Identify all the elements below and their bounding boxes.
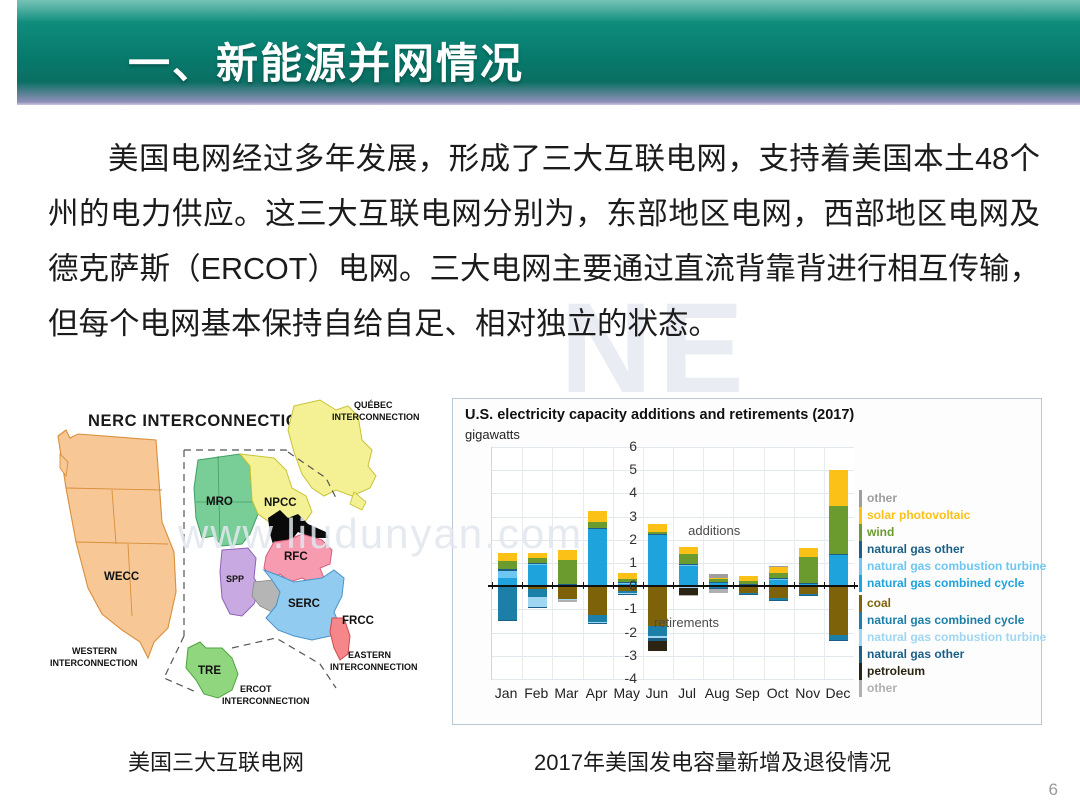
header-left-strip — [0, 0, 17, 105]
map-label-serc: SERC — [288, 598, 320, 610]
chart-legend-swatch — [859, 612, 862, 629]
chart-legend-swatch — [859, 507, 862, 524]
chart-legend-label: natural gas combustion turbine — [867, 630, 1046, 644]
chart-axis-tick — [492, 582, 493, 589]
header-sheen — [17, 0, 1080, 22]
chart-bar-segment — [739, 581, 758, 584]
chart-x-tick-label: Oct — [761, 685, 795, 701]
chart-bar — [588, 447, 607, 679]
chart-axis-tick — [703, 582, 704, 589]
chart-gridline-v — [794, 447, 795, 679]
chart-legend-label: solar photovoltaic — [867, 508, 970, 522]
chart-title: U.S. electricity capacity additions and … — [465, 407, 854, 423]
chart-bar-segment — [829, 640, 848, 641]
map-annotation-quebec-line2: INTERCONNECTION — [332, 412, 420, 422]
page-title: 一、新能源并网情况 — [128, 30, 524, 91]
chart-gridline-v — [764, 447, 765, 679]
chart-bar — [679, 447, 698, 679]
chart-bar-segment — [528, 589, 547, 597]
chart-bar-segment — [829, 554, 848, 555]
chart-bar-segment — [799, 586, 818, 594]
chart-bar-segment — [709, 579, 728, 581]
chart-bar-segment — [829, 470, 848, 506]
chart-gridline-v — [583, 447, 584, 679]
chart-bar-segment — [588, 615, 607, 622]
chart-bar-segment — [769, 586, 788, 598]
chart-axis-tick — [854, 582, 855, 589]
chart-axis-tick — [643, 582, 644, 589]
chart-bar-segment — [739, 594, 758, 595]
chart-legend-swatch — [859, 541, 862, 558]
page-number: 6 — [1049, 780, 1058, 800]
chart-annotation-additions: additions — [688, 523, 740, 538]
chart-bar-segment — [769, 573, 788, 578]
chart-bar-segment — [498, 571, 517, 578]
map-label-rfc: RFC — [284, 551, 308, 563]
chart-bar — [498, 447, 517, 679]
map-label-mro: MRO — [206, 496, 233, 508]
chart-gridline-v — [643, 447, 644, 679]
chart-bar-segment — [528, 564, 547, 565]
chart-bar-segment — [528, 607, 547, 608]
chart-bar-segment — [679, 565, 698, 586]
chart-y-tick-label: 3 — [615, 508, 637, 524]
capacity-chart-panel: U.S. electricity capacity additions and … — [452, 398, 1042, 725]
map-label-frcc: FRCC — [342, 615, 374, 627]
chart-y-tick-label: 6 — [615, 438, 637, 454]
chart-bar-segment — [769, 578, 788, 579]
chart-legend-swatch — [859, 680, 862, 697]
chart-legend-label: petroleum — [867, 664, 925, 678]
chart-bar-segment — [528, 565, 547, 586]
chart-legend-swatch — [859, 558, 862, 575]
chart-bar — [829, 447, 848, 679]
chart-bar-segment — [648, 524, 667, 532]
chart-bar-segment — [679, 547, 698, 554]
chart-bar-segment — [829, 586, 848, 635]
chart-y-tick-label: -3 — [615, 647, 637, 663]
chart-legend-swatch — [859, 629, 862, 646]
chart-bar-segment — [618, 594, 637, 595]
chart-y-tick-label: -2 — [615, 624, 637, 640]
chart-x-tick-label: Dec — [821, 685, 855, 701]
chart-bar-segment — [648, 534, 667, 535]
chart-bar-segment — [679, 554, 698, 564]
chart-y-tick-label: 1 — [615, 554, 637, 570]
chart-bar — [739, 447, 758, 679]
chart-axis-tick — [583, 582, 584, 589]
map-annotation-eastern-line1: EASTERN — [348, 650, 391, 660]
chart-x-tick-label: Aug — [700, 685, 734, 701]
chart-bar-segment — [498, 569, 517, 571]
chart-legend-label: natural gas other — [867, 647, 964, 661]
nerc-interconnections-map: NERC INTERCONNECTIONS WECC — [36, 392, 440, 722]
chart-gridline-v — [552, 447, 553, 679]
chart-y-tick-label: -4 — [615, 670, 637, 686]
chart-bar-segment — [769, 566, 788, 573]
map-annotation-eastern-line2: INTERCONNECTION — [330, 662, 418, 672]
chart-bar-segment — [799, 595, 818, 596]
chart-gridline-v — [522, 447, 523, 679]
chart-bar-segment — [558, 586, 577, 599]
chart-x-tick-label: Jul — [670, 685, 704, 701]
chart-bar-segment — [588, 586, 607, 615]
body-paragraph: 美国电网经过多年发展，形成了三大互联电网，支持着美国本土48个州的电力供应。这三… — [48, 132, 1040, 352]
chart-axis-tick — [733, 582, 734, 589]
chart-legend-swatch — [859, 490, 862, 507]
chart-bar-segment — [588, 528, 607, 529]
chart-subtitle: gigawatts — [465, 427, 520, 442]
chart-annotation-retirements: retirements — [654, 615, 719, 630]
chart-bar-segment — [769, 566, 788, 567]
chart-gridline-h — [492, 679, 854, 680]
chart-legend-label: natural gas combined cycle — [867, 613, 1024, 627]
chart-bar-segment — [799, 548, 818, 557]
chart-axis-tick — [824, 582, 825, 589]
chart-bar-segment — [739, 586, 758, 593]
map-annotation-quebec-line1: QUÉBEC — [354, 400, 393, 410]
chart-x-tick-label: Apr — [580, 685, 614, 701]
chart-bar-segment — [769, 600, 788, 601]
chart-bar-segment — [829, 555, 848, 586]
chart-legend-label: other — [867, 491, 897, 505]
chart-legend-swatch — [859, 524, 862, 541]
chart-plot-area — [491, 447, 854, 680]
map-annotation-western-line2: INTERCONNECTION — [50, 658, 138, 668]
chart-bar-segment — [829, 506, 848, 554]
chart-x-tick-label: Nov — [791, 685, 825, 701]
map-label-spp: SPP — [226, 574, 244, 584]
chart-bar-segment — [558, 560, 577, 584]
chart-bar-segment — [648, 641, 667, 651]
chart-bar-segment — [679, 588, 698, 595]
chart-bar-segment — [709, 582, 728, 583]
chart-y-tick-label: 0 — [615, 577, 637, 593]
chart-bar — [709, 447, 728, 679]
map-label-wecc: WECC — [104, 571, 139, 583]
map-caption: 美国三大互联电网 — [128, 745, 304, 777]
chart-axis-tick — [613, 582, 614, 589]
chart-bar-segment — [528, 563, 547, 564]
map-annotation-ercot-line2: INTERCONNECTION — [222, 696, 310, 706]
chart-gridline-v — [733, 447, 734, 679]
map-dashed-eastern-boundary — [184, 450, 288, 452]
chart-bar-segment — [498, 587, 517, 619]
chart-bar-segment — [648, 535, 667, 586]
chart-bar-segment — [588, 623, 607, 624]
chart-y-tick-label: 2 — [615, 531, 637, 547]
slide-header-band: 一、新能源并网情况 — [0, 0, 1080, 105]
chart-legend-label: natural gas other — [867, 542, 964, 556]
chart-bar-segment — [528, 558, 547, 563]
chart-x-tick-label: Sep — [730, 685, 764, 701]
chart-bar-segment — [679, 595, 698, 596]
chart-bar-segment — [498, 561, 517, 569]
chart-x-tick-label: Mar — [549, 685, 583, 701]
chart-legend-label: natural gas combustion turbine — [867, 559, 1046, 573]
chart-x-tick-label: May — [610, 685, 644, 701]
chart-axis-tick — [673, 582, 674, 589]
chart-y-tick-label: 5 — [615, 461, 637, 477]
chart-bar — [769, 447, 788, 679]
chart-bar-segment — [528, 597, 547, 607]
chart-legend-swatch — [859, 646, 862, 663]
chart-gridline-v — [673, 447, 674, 679]
chart-y-tick-label: -1 — [615, 600, 637, 616]
chart-bar — [558, 447, 577, 679]
chart-bar-segment — [709, 578, 728, 580]
chart-bar-segment — [588, 529, 607, 586]
chart-bar-segment — [769, 579, 788, 580]
map-annotation-ercot-line1: ERCOT — [240, 684, 272, 694]
chart-x-tick-label: Feb — [519, 685, 553, 701]
chart-gridline-v — [703, 447, 704, 679]
chart-legend-label: natural gas combined cycle — [867, 576, 1024, 590]
chart-axis-tick — [764, 582, 765, 589]
chart-legend-swatch — [859, 575, 862, 592]
chart-gridline-v — [613, 447, 614, 679]
chart-axis-tick — [794, 582, 795, 589]
chart-bar-segment — [679, 564, 698, 565]
chart-bar-segment — [498, 553, 517, 561]
chart-bar-segment — [528, 553, 547, 558]
chart-bar-segment — [588, 511, 607, 521]
chart-bar-segment — [799, 557, 818, 583]
chart-x-tick-label: Jan — [489, 685, 523, 701]
chart-bar — [528, 447, 547, 679]
chart-legend-swatch — [859, 663, 862, 680]
map-label-tre: TRE — [198, 665, 221, 677]
chart-bar — [799, 447, 818, 679]
chart-y-tick-label: 4 — [615, 484, 637, 500]
chart-bar — [648, 447, 667, 679]
chart-bar-segment — [709, 589, 728, 594]
chart-legend-label: wind — [867, 525, 894, 539]
chart-legend-swatch — [859, 595, 862, 612]
chart-bar-segment — [648, 532, 667, 534]
chart-bar-segment — [588, 522, 607, 528]
chart-bar-segment — [709, 574, 728, 577]
map-annotation-western-line1: WESTERN — [72, 646, 117, 656]
chart-bar-segment — [498, 620, 517, 621]
map-label-npcc: NPCC — [264, 497, 297, 509]
chart-bar-segment — [739, 576, 758, 582]
chart-gridline-v — [824, 447, 825, 679]
chart-legend-label: coal — [867, 596, 891, 610]
map-graphic: WECC MRO NPCC RFC SPP SERC FRCC TRE QUÉB… — [36, 392, 440, 722]
chart-bar-segment — [558, 550, 577, 559]
chart-axis-tick — [522, 582, 523, 589]
chart-bar-segment — [799, 583, 818, 584]
chart-bar-segment — [558, 600, 577, 602]
chart-axis-tick — [552, 582, 553, 589]
chart-legend-label: other — [867, 681, 897, 695]
chart-x-tick-label: Jun — [640, 685, 674, 701]
chart-caption: 2017年美国发电容量新增及退役情况 — [534, 745, 891, 777]
